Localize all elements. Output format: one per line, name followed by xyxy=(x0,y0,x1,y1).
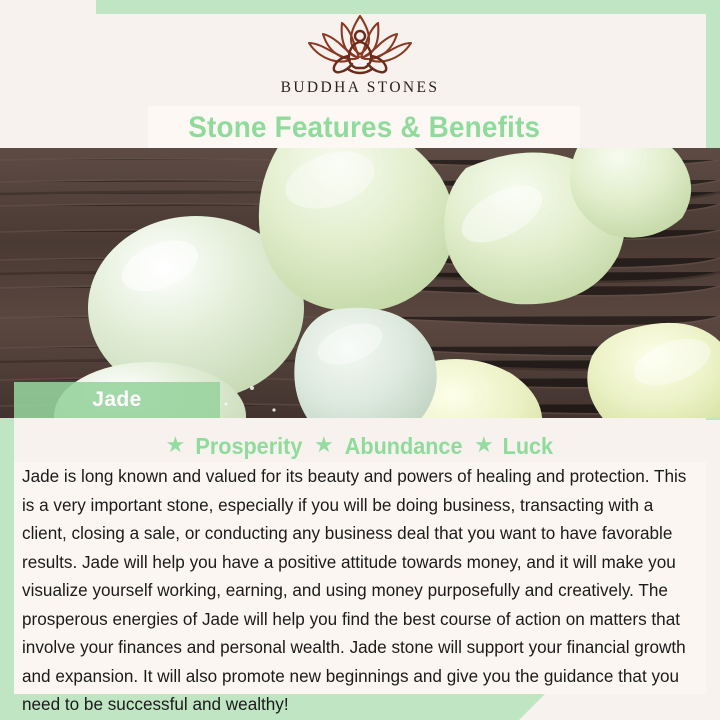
stone-photo xyxy=(0,148,720,418)
stone-name-banner: Jade xyxy=(14,382,220,418)
description-text: Jade is long known and valued for its be… xyxy=(22,462,690,719)
stone-name-label: Jade xyxy=(92,388,141,412)
keyword-item: ★ Luck xyxy=(474,433,554,460)
description-panel: Jade is long known and valued for its be… xyxy=(14,462,706,694)
keyword-label: Prosperity xyxy=(196,433,303,460)
jade-stones-image xyxy=(0,148,720,418)
keyword-item: ★ Prosperity xyxy=(166,433,307,460)
stone-info-card: BUDDHA STONES Stone Features & Benefits xyxy=(0,0,720,720)
star-icon: ★ xyxy=(474,434,494,456)
brand-wordmark: BUDDHA STONES xyxy=(281,79,440,97)
star-icon: ★ xyxy=(166,434,186,456)
keyword-item: ★ Abundance xyxy=(314,433,466,460)
page-title: Stone Features & Benefits xyxy=(188,111,540,145)
brand-logo: BUDDHA STONES xyxy=(0,10,720,110)
star-icon: ★ xyxy=(314,434,334,456)
keyword-label: Luck xyxy=(502,433,552,460)
title-banner: Stone Features & Benefits xyxy=(148,106,580,150)
lotus-meditation-icon xyxy=(301,10,419,76)
keyword-label: Abundance xyxy=(345,433,463,460)
benefit-keywords: ★ Prosperity ★ Abundance ★ Luck xyxy=(14,430,706,462)
